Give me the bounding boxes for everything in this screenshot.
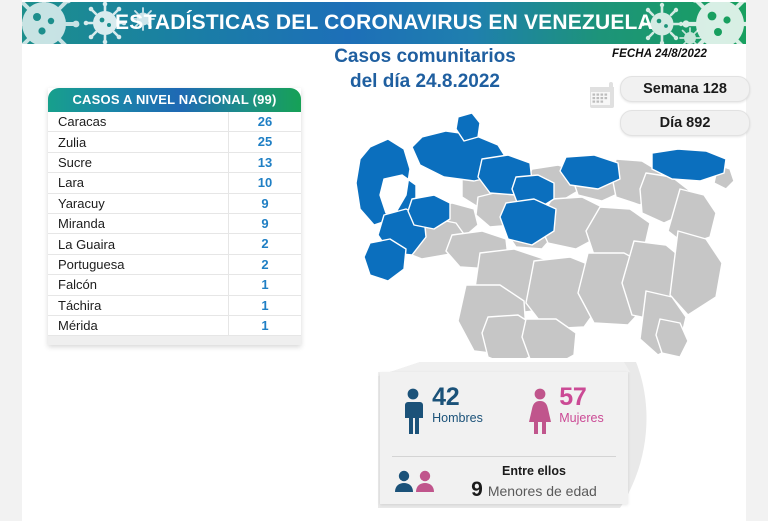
page-title-line1: Casos comunitarios: [334, 46, 516, 67]
gender-stats-panel: 42 Hombres 57 Mujeres: [372, 362, 640, 508]
gender-row: 42 Hombres 57 Mujeres: [380, 384, 628, 446]
panel-body: 42 Hombres 57 Mujeres: [380, 372, 628, 504]
table-cell-cases: 10: [228, 173, 301, 192]
fecha-label: FECHA 24/8/2022: [612, 48, 762, 60]
map-state-gray: [396, 159, 734, 358]
table-cell-cases: 2: [228, 234, 301, 253]
table-cell-state: Táchira: [48, 298, 228, 313]
table-row: Caracas26: [48, 112, 301, 132]
female-figure-icon: [528, 388, 552, 434]
header-banner: ESTADÍSTICAS DEL CORONAVIRUS EN VENEZUEL…: [22, 2, 746, 44]
table-row: Sucre13: [48, 153, 301, 173]
women-text: 57 Mujeres: [559, 384, 603, 426]
table-cell-state: Miranda: [48, 216, 228, 231]
national-cases-table: CASOS A NIVEL NACIONAL (99) Caracas26Zul…: [48, 88, 301, 345]
table-row: Portuguesa2: [48, 255, 301, 275]
minors-text: Entre ellos 9 Menores de edad: [444, 464, 624, 502]
women-value: 57: [559, 384, 603, 411]
men-label: Hombres: [432, 411, 483, 426]
table-footer-strip: [48, 335, 301, 345]
badge-semana[interactable]: Semana 128: [620, 76, 750, 102]
page-title: Casos comunitarios del día 24.8.2022: [280, 44, 570, 94]
men-text: 42 Hombres: [432, 384, 483, 426]
table-row: Táchira1: [48, 296, 301, 316]
table-cell-cases: 1: [228, 296, 301, 315]
table-cell-state: Zulia: [48, 135, 228, 150]
minors-row: Entre ellos 9 Menores de edad: [380, 464, 628, 504]
table-cell-state: Caracas: [48, 114, 228, 129]
table-cell-state: Falcón: [48, 277, 228, 292]
table-header: CASOS A NIVEL NACIONAL (99): [48, 88, 301, 112]
men-stat: 42 Hombres: [380, 384, 504, 446]
women-stat: 57 Mujeres: [504, 384, 628, 446]
table-cell-cases: 13: [228, 153, 301, 172]
table-cell-cases: 1: [228, 316, 301, 335]
table-row: Miranda9: [48, 214, 301, 234]
table-row: Lara10: [48, 173, 301, 193]
table-cell-state: La Guaira: [48, 237, 228, 252]
map-svg: [330, 103, 760, 358]
women-label: Mujeres: [559, 411, 603, 426]
table-cell-state: Portuguesa: [48, 257, 228, 272]
male-figure-icon: [401, 388, 425, 434]
left-rail: [0, 0, 22, 521]
table-cell-state: Yaracuy: [48, 196, 228, 211]
infographic-root: ESTADÍSTICAS DEL CORONAVIRUS EN VENEZUEL…: [0, 0, 768, 521]
table-cell-cases: 9: [228, 194, 301, 213]
table-cell-cases: 26: [228, 112, 301, 131]
table-row: Falcón1: [48, 275, 301, 295]
minors-label: Menores de edad: [488, 480, 597, 502]
venezuela-choropleth-map: [330, 103, 760, 358]
banner-title: ESTADÍSTICAS DEL CORONAVIRUS EN VENEZUEL…: [22, 2, 746, 44]
table-cell-state: Mérida: [48, 318, 228, 333]
men-value: 42: [432, 384, 483, 411]
table-cell-cases: 1: [228, 275, 301, 294]
table-cell-cases: 9: [228, 214, 301, 233]
table-cell-state: Sucre: [48, 155, 228, 170]
table-cell-state: Lara: [48, 175, 228, 190]
table-row: La Guaira2: [48, 234, 301, 254]
table-row: Zulia25: [48, 132, 301, 152]
minors-intro: Entre ellos: [444, 464, 624, 479]
table-cell-cases: 2: [228, 255, 301, 274]
two-person-bust-icon: [394, 469, 438, 493]
table-row: Yaracuy9: [48, 194, 301, 214]
table-row: Mérida1: [48, 316, 301, 335]
minors-value: 9: [471, 479, 483, 501]
page-title-line2: del día 24.8.2022: [280, 69, 570, 94]
minors-value-row: 9 Menores de edad: [444, 479, 624, 502]
table-body: Caracas26Zulia25Sucre13Lara10Yaracuy9Mir…: [48, 112, 301, 335]
table-cell-cases: 25: [228, 132, 301, 151]
panel-divider: [392, 456, 616, 457]
